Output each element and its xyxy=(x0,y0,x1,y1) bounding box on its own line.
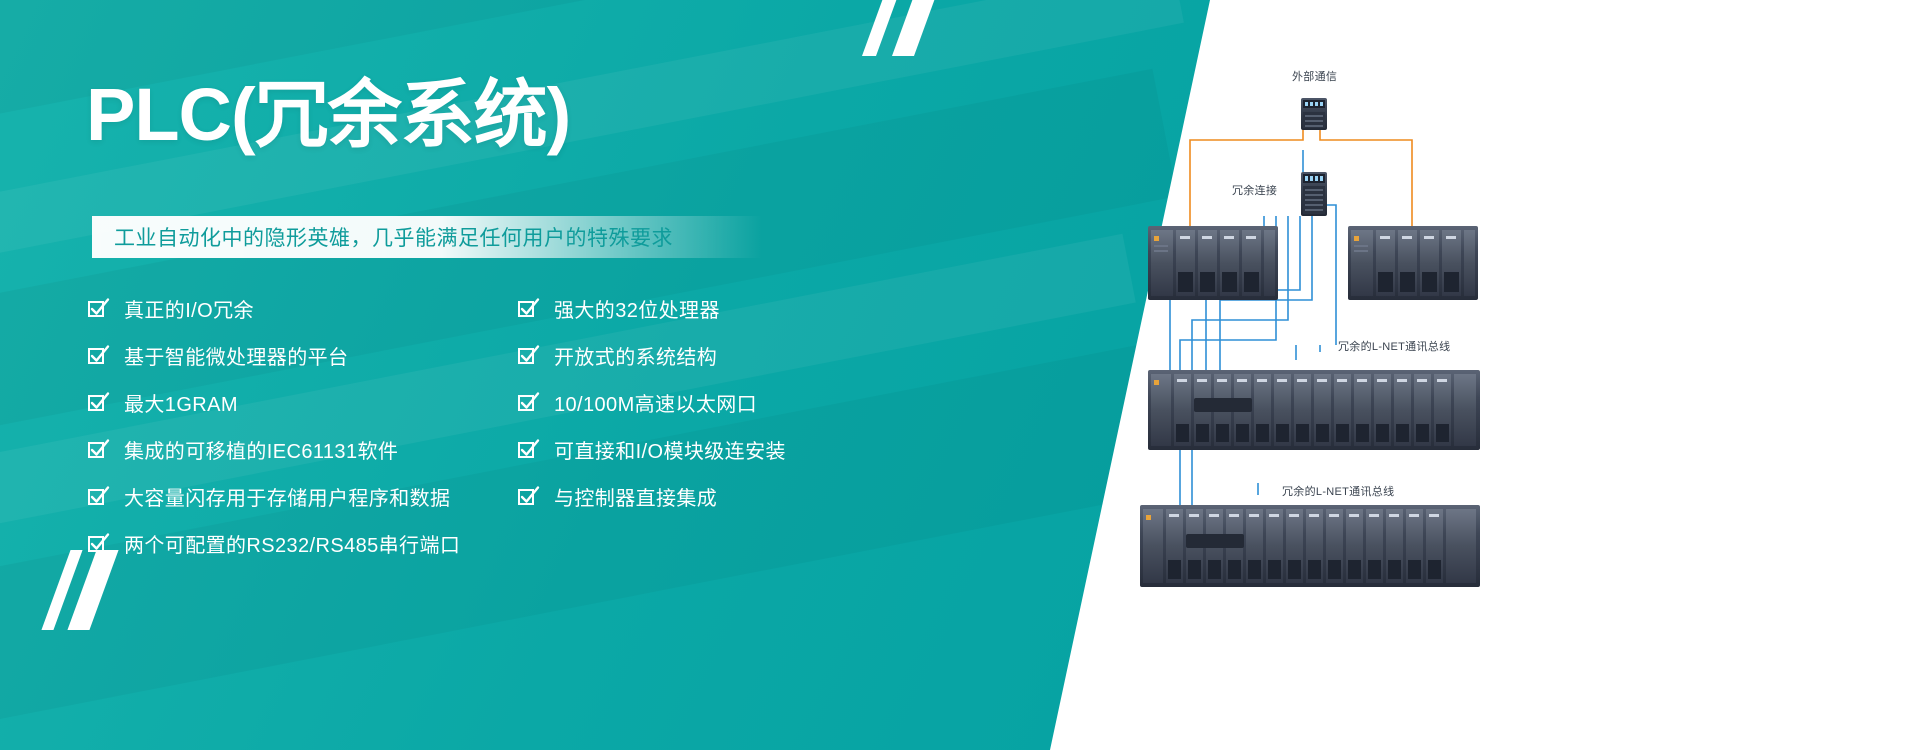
checkbox-checked-icon xyxy=(86,438,110,462)
list-item-label: 可直接和I/O模块级连安装 xyxy=(554,435,786,464)
list-item-label: 大容量闪存用于存储用户程序和数据 xyxy=(124,482,450,511)
diagram-label-lnet-bus-lower: 冗余的L-NET通讯总线 xyxy=(1282,483,1394,499)
plc-rack-right xyxy=(1348,226,1478,300)
diagram-label-lnet-bus-upper: 冗余的L-NET通讯总线 xyxy=(1338,338,1450,354)
diagram-panel: 外部通信 冗余连接 冗余的L-NET通讯总线 冗余的L-NET通讯总线 xyxy=(1020,0,1920,750)
checkbox-checked-icon xyxy=(516,438,540,462)
list-item[interactable]: 10/100M高速以太网口 xyxy=(516,379,936,426)
io-rack-bottom xyxy=(1140,505,1480,587)
checkbox-checked-icon xyxy=(86,297,110,321)
subtitle-banner: 工业自动化中的隐形英雄，几乎能满足任何用户的特殊要求 xyxy=(92,216,762,258)
feature-list: 真正的I/O冗余 基于智能微处理器的平台 最大1GRAM 集成的可移植的IEC6… xyxy=(86,285,1026,567)
list-item[interactable]: 真正的I/O冗余 xyxy=(86,285,506,332)
list-item[interactable]: 大容量闪存用于存储用户程序和数据 xyxy=(86,473,506,520)
list-item[interactable]: 开放式的系统结构 xyxy=(516,332,936,379)
feature-column-right: 强大的32位处理器 开放式的系统结构 10/100M高速以太网口 可直接和I/O… xyxy=(516,285,936,567)
list-item-label: 最大1GRAM xyxy=(124,388,238,417)
checkbox-checked-icon xyxy=(86,391,110,415)
feature-column-left: 真正的I/O冗余 基于智能微处理器的平台 最大1GRAM 集成的可移植的IEC6… xyxy=(86,285,506,567)
list-item[interactable]: 两个可配置的RS232/RS485串行端口 xyxy=(86,520,506,567)
io-rack-middle xyxy=(1148,370,1480,450)
diagram-label-external-comm: 外部通信 xyxy=(1292,68,1337,84)
list-item-label: 真正的I/O冗余 xyxy=(124,294,254,323)
ethernet-switch-middle xyxy=(1301,172,1327,216)
checkbox-checked-icon xyxy=(516,344,540,368)
list-item-label: 集成的可移植的IEC61131软件 xyxy=(124,435,398,464)
list-item-label: 两个可配置的RS232/RS485串行端口 xyxy=(124,529,460,558)
diagram-label-redundant-link: 冗余连接 xyxy=(1232,182,1277,198)
list-item[interactable]: 最大1GRAM xyxy=(86,379,506,426)
list-item-label: 强大的32位处理器 xyxy=(554,294,720,323)
list-item[interactable]: 基于智能微处理器的平台 xyxy=(86,332,506,379)
checkbox-checked-icon xyxy=(86,532,110,556)
list-item-label: 基于智能微处理器的平台 xyxy=(124,341,348,370)
list-item-label: 与控制器直接集成 xyxy=(554,482,717,511)
list-item-label: 开放式的系统结构 xyxy=(554,341,717,370)
checkbox-checked-icon xyxy=(86,485,110,509)
plc-redundancy-diagram xyxy=(1020,0,1920,750)
checkbox-checked-icon xyxy=(516,297,540,321)
checkbox-checked-icon xyxy=(516,485,540,509)
list-item[interactable]: 强大的32位处理器 xyxy=(516,285,936,332)
list-item[interactable]: 可直接和I/O模块级连安装 xyxy=(516,426,936,473)
plc-rack-left xyxy=(1148,226,1278,300)
checkbox-checked-icon xyxy=(516,391,540,415)
ethernet-switch-top xyxy=(1301,98,1327,130)
list-item[interactable]: 与控制器直接集成 xyxy=(516,473,936,520)
page-title: PLC(冗余系统) xyxy=(86,78,570,152)
hero-content: PLC(冗余系统) 工业自动化中的隐形英雄，几乎能满足任何用户的特殊要求 真正的… xyxy=(0,0,1100,750)
checkbox-checked-icon xyxy=(86,344,110,368)
list-item-label: 10/100M高速以太网口 xyxy=(554,388,757,417)
list-item[interactable]: 集成的可移植的IEC61131软件 xyxy=(86,426,506,473)
subtitle-text: 工业自动化中的隐形英雄，几乎能满足任何用户的特殊要求 xyxy=(92,222,673,252)
